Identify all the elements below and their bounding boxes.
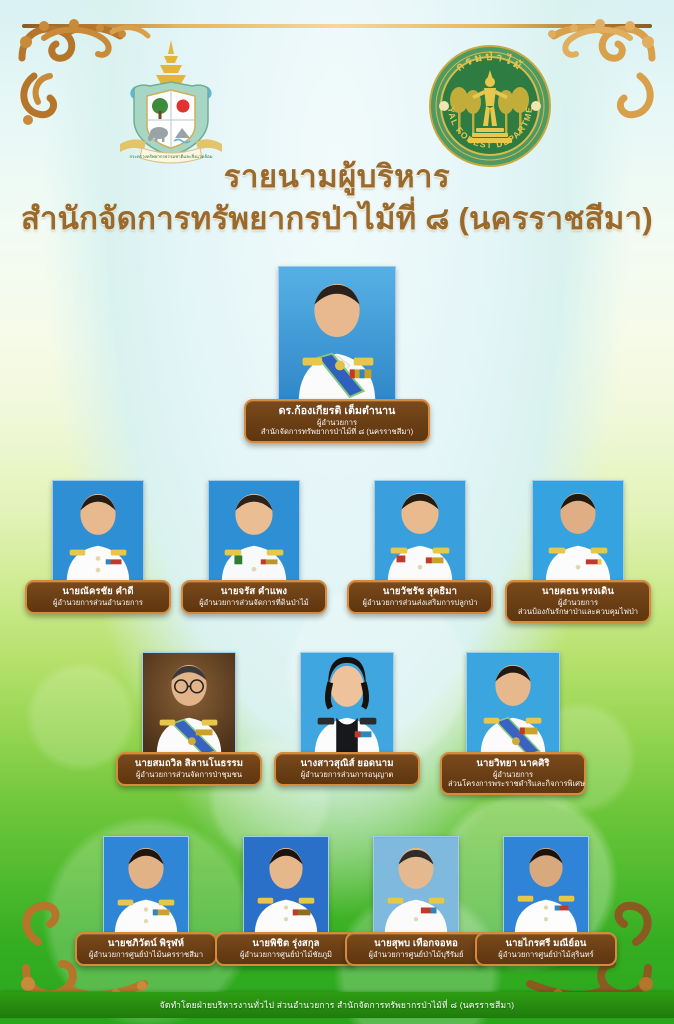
portrait-photo bbox=[142, 652, 236, 756]
person-name: นางสาวสุณิส์ ยอดนาม bbox=[282, 758, 412, 770]
portrait-photo bbox=[278, 266, 396, 404]
person-role-line2: ส่วนป้องกันรักษาป่าและควบคุมไฟป่า bbox=[513, 607, 643, 616]
portrait-photo bbox=[52, 480, 144, 584]
nameplate: นางสาวสุณิส์ ยอดนาม ผู้อำนวยการส่วนการอน… bbox=[274, 752, 420, 786]
nameplate: นายชภิวัตน์ พิรุฬห์ ผู้อำนวยการศูนย์ป่าไ… bbox=[75, 932, 217, 966]
footer-bar: จัดทำโดยฝ่ายบริหารงานทั่วไป ส่วนอำนวยการ… bbox=[0, 992, 674, 1018]
person-name: นายชภิวัตน์ พิรุฬห์ bbox=[83, 938, 209, 950]
title-line-1: รายนามผู้บริหาร bbox=[0, 158, 674, 197]
person-name: นายคธน ทรงเดิน bbox=[513, 586, 643, 598]
portrait-photo bbox=[374, 480, 466, 584]
nameplate: นายสมถวิล สิลานโนธรรม ผู้อำนวยการส่วนจัด… bbox=[116, 752, 262, 786]
portrait-photo bbox=[243, 836, 329, 936]
nameplate: นายพิชิต รุ่งสกุล ผู้อำนวยการศูนย์ป่าไม้… bbox=[215, 932, 357, 966]
person-role: ผู้อำนวยการ bbox=[448, 770, 578, 779]
person-role: ผู้อำนวยการศูนย์ป่าไม้นครราชสีมา bbox=[83, 950, 209, 959]
person-role: ผู้อำนวยการส่วนส่งเสริมการปลูกป่า bbox=[355, 598, 485, 607]
person-role: ผู้อำนวยการส่วนอำนวยการ bbox=[33, 598, 163, 607]
nameplate: นายวิทยา นาคศิริ ผู้อำนวยการ ส่วนโครงการ… bbox=[440, 752, 586, 795]
nameplate: ดร.ก้องเกียรติ เต็มตำนาน ผู้อำนวยการ สำน… bbox=[244, 399, 430, 443]
person-role: ผู้อำนวยการส่วนจัดการป่าชุมชน bbox=[124, 770, 254, 779]
person-role: ผู้อำนวยการศูนย์ป่าไม้ชัยภูมิ bbox=[223, 950, 349, 959]
portrait-photo bbox=[103, 836, 189, 936]
person-role: ผู้อำนวยการ bbox=[513, 598, 643, 607]
person-role: ผู้อำนวยการส่วนจัดการที่ดินป่าไม้ bbox=[189, 598, 319, 607]
person-name: นายสุพบ เทือกจอหอ bbox=[353, 938, 479, 950]
nameplate: นายจรัส คำแพง ผู้อำนวยการส่วนจัดการที่ดิ… bbox=[181, 580, 327, 614]
person-name: นายพิชิต รุ่งสกุล bbox=[223, 938, 349, 950]
nameplate: นายคธน ทรงเดิน ผู้อำนวยการ ส่วนป้องกันรั… bbox=[505, 580, 651, 623]
person-role: ผู้อำนวยการ bbox=[252, 418, 422, 427]
page-title: รายนามผู้บริหาร สำนักจัดการทรัพยากรป่าไม… bbox=[0, 158, 674, 239]
nameplate: นายณัครชัย คำดี ผู้อำนวยการส่วนอำนวยการ bbox=[25, 580, 171, 614]
org-chart-poster: กระทรวงทรัพยากรธรรมชาติและสิ่งแวดล้อม bbox=[0, 0, 674, 1024]
person-name: ดร.ก้องเกียรติ เต็มตำนาน bbox=[252, 405, 422, 418]
nameplate: นายสุพบ เทือกจอหอ ผู้อำนวยการศูนย์ป่าไม้… bbox=[345, 932, 487, 966]
portrait-photo bbox=[300, 652, 394, 756]
person-name: นายไกรศรี มณีย์อน bbox=[483, 938, 609, 950]
portrait-photo bbox=[503, 836, 589, 936]
person-role-line2: สำนักจัดการทรัพยากรป่าไม้ที่ ๘ (นครราชสี… bbox=[252, 427, 422, 436]
person-role: ผู้อำนวยการศูนย์ป่าไม้บุรีรัมย์ bbox=[353, 950, 479, 959]
person-role-line2: ส่วนโครงการพระราชดำริและกิจการพิเศษ bbox=[448, 779, 578, 788]
portrait-photo bbox=[208, 480, 300, 584]
person-name: นายวิทยา นาคศิริ bbox=[448, 758, 578, 770]
nameplate: นายไกรศรี มณีย์อน ผู้อำนวยการศูนย์ป่าไม้… bbox=[475, 932, 617, 966]
portrait-photo bbox=[532, 480, 624, 584]
person-name: นายสมถวิล สิลานโนธรรม bbox=[124, 758, 254, 770]
ministry-of-natural-resources-and-environment-emblem: กระทรวงทรัพยากรธรรมชาติและสิ่งแวดล้อม bbox=[112, 38, 230, 166]
person-name: นายวัชรัช สุคธิมา bbox=[355, 586, 485, 598]
royal-forest-department-seal: กรมป่าไม้ ROYAL FOREST DEPARTMENT bbox=[428, 44, 552, 168]
title-line-2: สำนักจัดการทรัพยากรป่าไม้ที่ ๘ (นครราชสี… bbox=[0, 199, 674, 239]
person-name: นายณัครชัย คำดี bbox=[33, 586, 163, 598]
person-name: นายจรัส คำแพง bbox=[189, 586, 319, 598]
person-role: ผู้อำนวยการส่วนการอนุญาต bbox=[282, 770, 412, 779]
nameplate: นายวัชรัช สุคธิมา ผู้อำนวยการส่วนส่งเสริ… bbox=[347, 580, 493, 614]
person-role: ผู้อำนวยการศูนย์ป่าไม้สุรินทร์ bbox=[483, 950, 609, 959]
portrait-photo bbox=[466, 652, 560, 756]
footer-credit-text: จัดทำโดยฝ่ายบริหารงานทั่วไป ส่วนอำนวยการ… bbox=[160, 998, 515, 1012]
portrait-photo bbox=[373, 836, 459, 936]
